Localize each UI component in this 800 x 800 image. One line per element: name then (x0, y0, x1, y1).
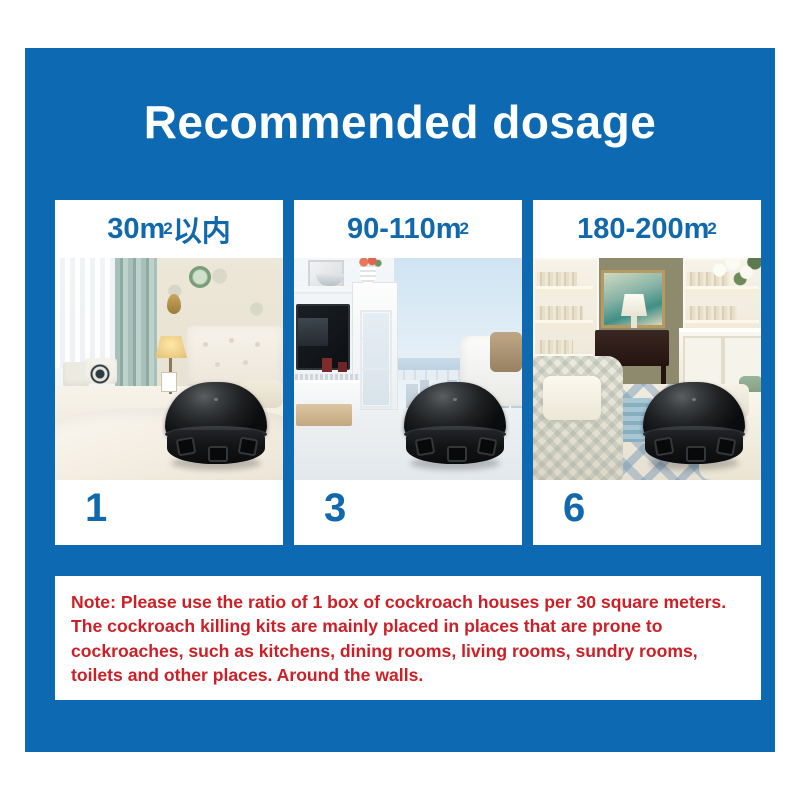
card-area-header: 90-110m2 (294, 200, 522, 258)
card-footer: 6 (533, 480, 761, 545)
page-title: Recommended dosage (0, 95, 800, 149)
card-area-base: 90-110m (347, 213, 462, 246)
card-count-value: 3 (324, 486, 346, 531)
dosage-card-90-110sqm[interactable]: 90-110m2 (294, 200, 522, 545)
card-footer: 3 (294, 480, 522, 545)
card-count-value: 1 (85, 486, 107, 531)
cockroach-trap-device-icon (639, 382, 749, 472)
card-area-base: 30m (107, 213, 165, 246)
card-area-base: 180-200m (577, 213, 709, 246)
card-area-suffix: 以内 (173, 208, 231, 250)
dosage-card-list: 30m2以内 (55, 200, 761, 545)
cockroach-trap-device-icon (161, 382, 271, 472)
dosage-card-30sqm[interactable]: 30m2以内 (55, 200, 283, 545)
cockroach-trap-device-icon (400, 382, 510, 472)
note-text: Note: Please use the ratio of 1 box of c… (55, 576, 761, 687)
card-area-header: 180-200m2 (533, 200, 761, 258)
card-footer: 1 (55, 480, 283, 545)
poster: Recommended dosage 30m2以内 (0, 0, 800, 800)
note-box: Note: Please use the ratio of 1 box of c… (55, 576, 761, 700)
dosage-card-180-200sqm[interactable]: 180-200m2 (533, 200, 761, 545)
card-area-header: 30m2以内 (55, 200, 283, 258)
card-count-value: 6 (563, 486, 585, 531)
